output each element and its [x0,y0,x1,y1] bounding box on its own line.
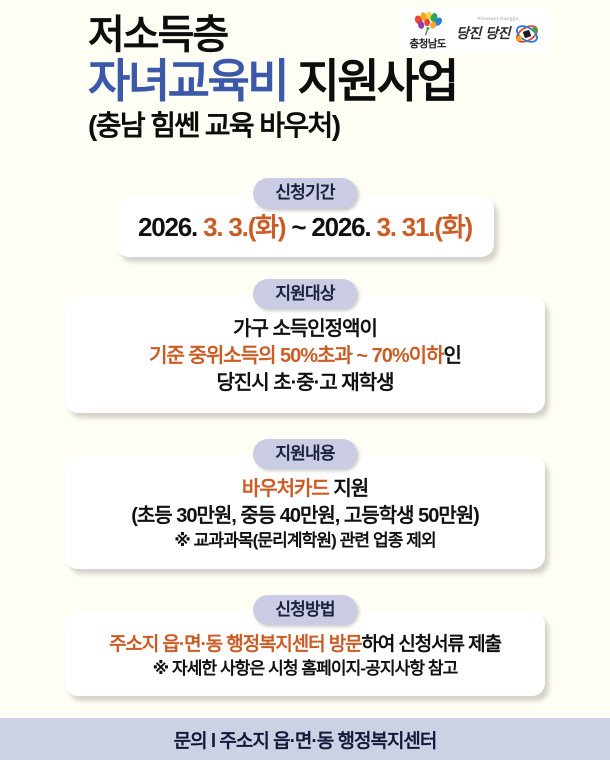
body-text: 당진시 초·중·고 재학생 [216,372,393,394]
province-name-label: 충청남도 [409,39,446,50]
page-title-line2: 자녀교육비 지원사업 [88,56,610,108]
body-text: 가구 소득인정액이 [233,318,377,340]
section-target: 지원대상가구 소득인정액이기준 중위소득의 50%초과 ~ 70%이하인당진시 … [0,279,610,413]
page-title-line2-rest: 지원사업 [287,55,457,107]
contact-footer-text: 문의 l 주소지 읍·면·동 행정복지센터 [174,726,437,753]
sections-container: 신청기간2026. 3. 3.(화) ~ 2026. 3. 31.(화)지원대상… [0,172,610,718]
body-text: (초등 30만원, 중등 40만원, 고등학생 50만원) [131,505,479,527]
dangjin-logo-row: 당진 당진 [456,23,540,45]
card-line: ※ 교과과목(문리계학원) 관련 업종 제외 [83,530,527,553]
section-card-content: 바우처카드 지원(초등 30만원, 중등 40만원, 고등학생 50만원)※ 교… [65,456,545,568]
card-line: 2026. 3. 3.(화) ~ 2026. 3. 31.(화) [130,212,480,243]
body-text: 하여 신청서류 제출 [361,634,500,655]
body-text: ~ 2026. [285,212,376,242]
section-period: 신청기간2026. 3. 3.(화) ~ 2026. 3. 31.(화) [0,178,610,257]
body-text: 인 [443,345,460,367]
card-line: 바우처카드 지원 [83,476,527,503]
body-text: 지원 [329,478,368,500]
section-badge-content: 지원내용 [253,439,356,470]
poster-header: 충청남도 Pleasant Dangjin 당진 당진 저소득층 [0,0,610,172]
highlight-text: 기준 중위소득의 50%초과 ~ 70%이하 [149,345,443,367]
section-badge-target: 지원대상 [253,279,356,310]
body-text: ※ 자세한 사항은 시청 홈페이지-공지사항 참고 [153,659,458,678]
highlight-text: 주소지 읍·면·동 행정복지센터 방문 [109,634,361,655]
body-text: 2026. [138,212,203,242]
card-line: 기준 중위소득의 50%초과 ~ 70%이하인 [83,343,527,370]
section-content: 지원내용바우처카드 지원(초등 30만원, 중등 40만원, 고등학생 50만원… [0,439,610,569]
poster-root: 충청남도 Pleasant Dangjin 당진 당진 저소득층 [0,0,610,760]
card-line: 가구 소득인정액이 [83,316,527,343]
card-line: (초등 30만원, 중등 40만원, 고등학생 50만원) [83,503,527,530]
body-text: ※ 교과과목(문리계학원) 관련 업종 제외 [174,531,436,550]
card-line: ※ 자세한 사항은 시청 홈페이지-공지사항 참고 [83,658,527,681]
page-subtitle: (충남 힘쎈 교육 바우처) [88,109,610,143]
section-card-target: 가구 소득인정액이기준 중위소득의 50%초과 ~ 70%이하인당진시 초·중·… [65,296,545,412]
logo-group: 충청남도 Pleasant Dangjin 당진 당진 [401,8,548,54]
section-method: 신청방법주소지 읍·면·동 행정복지센터 방문하여 신청서류 제출※ 자세한 사… [0,595,610,697]
page-title-highlight: 자녀교육비 [88,55,287,107]
card-line: 당진시 초·중·고 재학생 [83,370,527,397]
city-name-label: 당진 당진 [456,27,510,41]
section-badge-method: 신청방법 [253,595,356,626]
section-badge-period: 신청기간 [253,178,356,209]
dangjin-logo: Pleasant Dangjin 당진 당진 [456,17,540,45]
highlight-text: 3. 31.(화) [376,212,472,242]
chungcheongnam-do-logo: 충청남도 [409,12,446,50]
card-line: 주소지 읍·면·동 행정복지센터 방문하여 신청서류 제출 [83,632,527,657]
chungcheongnam-do-emblem-icon [411,12,445,38]
city-tagline-label: Pleasant Dangjin [477,17,518,22]
contact-footer-bar: 문의 l 주소지 읍·면·동 행정복지센터 [0,718,610,760]
highlight-text: 바우처카드 [242,478,329,500]
dangjin-brand-mark-icon [514,23,540,45]
highlight-text: 3. 3.(화) [203,212,285,242]
